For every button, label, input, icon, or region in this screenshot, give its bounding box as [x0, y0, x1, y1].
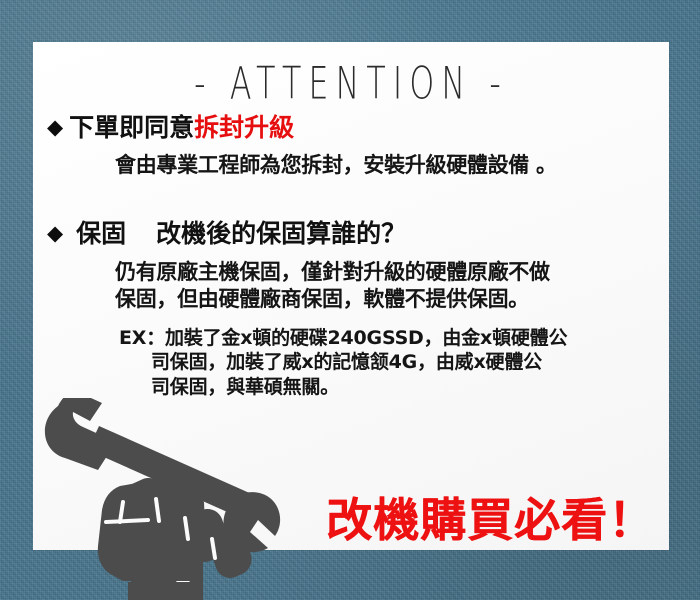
diamond-bullet-icon: ◆	[47, 114, 63, 140]
section-heading: ◆ 保固 改機後的保固算誰的？	[33, 220, 669, 248]
attention-poster: - ATTENTION - ◆ 下單即同意 拆封升級 會由專業工程師為您拆封，安…	[0, 0, 700, 600]
section-warranty: ◆ 保固 改機後的保固算誰的？ 仍有原廠主機保固，僅針對升級的硬體原廠不做 保固…	[33, 220, 669, 400]
section-body-line: 保固，但由硬體廠商保固，軟體不提供保固。	[33, 286, 669, 313]
sleeve-overflow	[131, 548, 203, 600]
heading-plain-text: 下單即同意	[69, 114, 194, 142]
callout-text: 改機購買必看！	[326, 497, 655, 543]
example-line: 司保固，加裝了威x的記憶颔4G，由威x硬體公	[33, 350, 669, 375]
section-body-line: 會由專業工程師為您拆封，安裝升級硬體設備 。	[33, 152, 669, 179]
heading-highlight-text: 拆封升級	[194, 114, 294, 142]
section-unseal-upgrade: ◆ 下單即同意 拆封升級 會由專業工程師為您拆封，安裝升級硬體設備 。	[33, 114, 669, 179]
diamond-bullet-icon: ◆	[47, 220, 63, 246]
heading-plain-text: 保固	[76, 220, 126, 248]
white-card: - ATTENTION - ◆ 下單即同意 拆封升級 會由專業工程師為您拆封，安…	[33, 42, 669, 550]
example-line: EX：加裝了金x頓的硬碟240GSSD，由金x頓硬體公	[33, 326, 669, 351]
example-line: 司保固，與華碩無關。	[33, 375, 669, 400]
heading-question-text: 改機後的保固算誰的？	[156, 220, 406, 248]
section-heading: ◆ 下單即同意 拆封升級	[33, 114, 669, 142]
page-title: - ATTENTION -	[27, 58, 676, 110]
section-body-line: 仍有原廠主機保固，僅針對升級的硬體原廠不做	[33, 259, 669, 286]
